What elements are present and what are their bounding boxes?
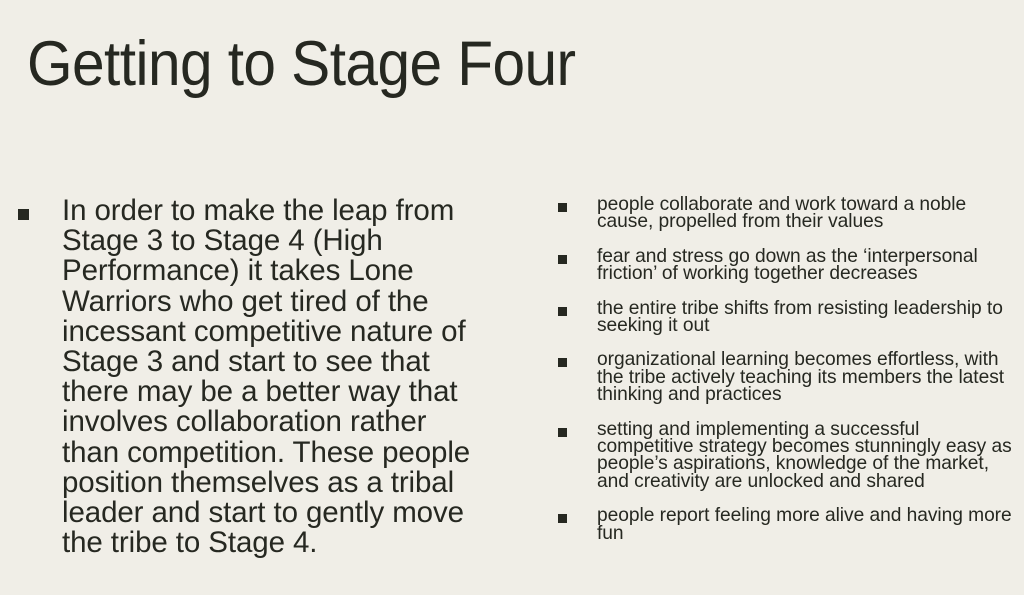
list-item-label: fear and stress go down as the ‘interper… xyxy=(597,248,1018,283)
square-bullet-icon xyxy=(558,307,567,316)
list-item: setting and implementing a successful co… xyxy=(558,421,1018,491)
slide: Getting to Stage Four In order to make t… xyxy=(0,0,1024,595)
list-item: the entire tribe shifts from resisting l… xyxy=(558,300,1018,335)
square-bullet-icon xyxy=(558,203,567,212)
list-item-label: organizational learning becomes effortle… xyxy=(597,351,1018,403)
square-bullet-icon xyxy=(558,358,567,367)
list-item-label: In order to make the leap from Stage 3 t… xyxy=(62,196,488,558)
square-bullet-icon xyxy=(558,255,567,264)
list-item: fear and stress go down as the ‘interper… xyxy=(558,248,1018,283)
list-item: people report feeling more alive and hav… xyxy=(558,507,1018,542)
list-item-label: people report feeling more alive and hav… xyxy=(597,507,1018,542)
square-bullet-icon xyxy=(558,428,567,437)
list-item: organizational learning becomes effortle… xyxy=(558,351,1018,403)
square-bullet-icon xyxy=(558,514,567,523)
list-item: In order to make the leap from Stage 3 t… xyxy=(18,196,488,558)
list-item-label: setting and implementing a successful co… xyxy=(597,421,1018,491)
left-text-column: In order to make the leap from Stage 3 t… xyxy=(18,196,488,558)
right-text-column: people collaborate and work toward a nob… xyxy=(558,196,1018,542)
list-item: people collaborate and work toward a nob… xyxy=(558,196,1018,231)
list-item-label: the entire tribe shifts from resisting l… xyxy=(597,300,1018,335)
square-bullet-icon xyxy=(18,209,29,220)
page-title: Getting to Stage Four xyxy=(27,26,575,102)
list-item-label: people collaborate and work toward a nob… xyxy=(597,196,1018,231)
